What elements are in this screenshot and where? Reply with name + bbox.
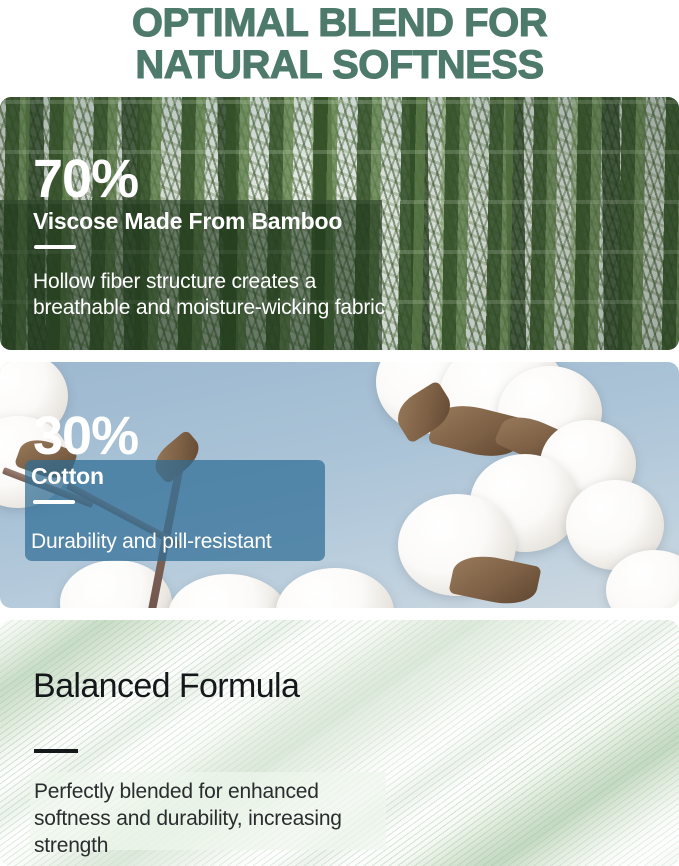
panel-fabric: Balanced Formula Perfectly blended for e… <box>0 620 679 866</box>
infographic-page: OPTIMAL BLEND FOR NATURAL SOFTNESS 70% V… <box>0 0 679 866</box>
cotton-material-label: Cotton <box>31 463 104 489</box>
bamboo-divider <box>34 245 76 249</box>
panel-bamboo: 70% Viscose Made From Bamboo Hollow fibe… <box>0 97 679 350</box>
fabric-content: Balanced Formula Perfectly blended for e… <box>0 620 679 866</box>
page-title-line-1: OPTIMAL BLEND FOR <box>0 2 679 44</box>
fabric-description: Perfectly blended for enhanced softness … <box>34 778 386 859</box>
cotton-content: 30% Cotton Durability and pill-resistant <box>0 362 679 608</box>
cotton-percentage: 30% <box>33 409 138 463</box>
bamboo-description: Hollow fiber structure creates a breatha… <box>33 269 385 321</box>
fabric-material-label: Balanced Formula <box>33 668 363 705</box>
page-title: OPTIMAL BLEND FOR NATURAL SOFTNESS <box>0 0 679 86</box>
fabric-divider <box>34 749 78 753</box>
cotton-description: Durability and pill-resistant <box>31 529 383 555</box>
bamboo-material-label: Viscose Made From Bamboo <box>33 208 342 234</box>
bamboo-content: 70% Viscose Made From Bamboo Hollow fibe… <box>0 97 679 350</box>
page-title-line-2: NATURAL SOFTNESS <box>0 44 679 86</box>
cotton-divider <box>33 500 75 504</box>
panel-cotton: 30% Cotton Durability and pill-resistant <box>0 362 679 608</box>
bamboo-percentage: 70% <box>33 152 138 206</box>
